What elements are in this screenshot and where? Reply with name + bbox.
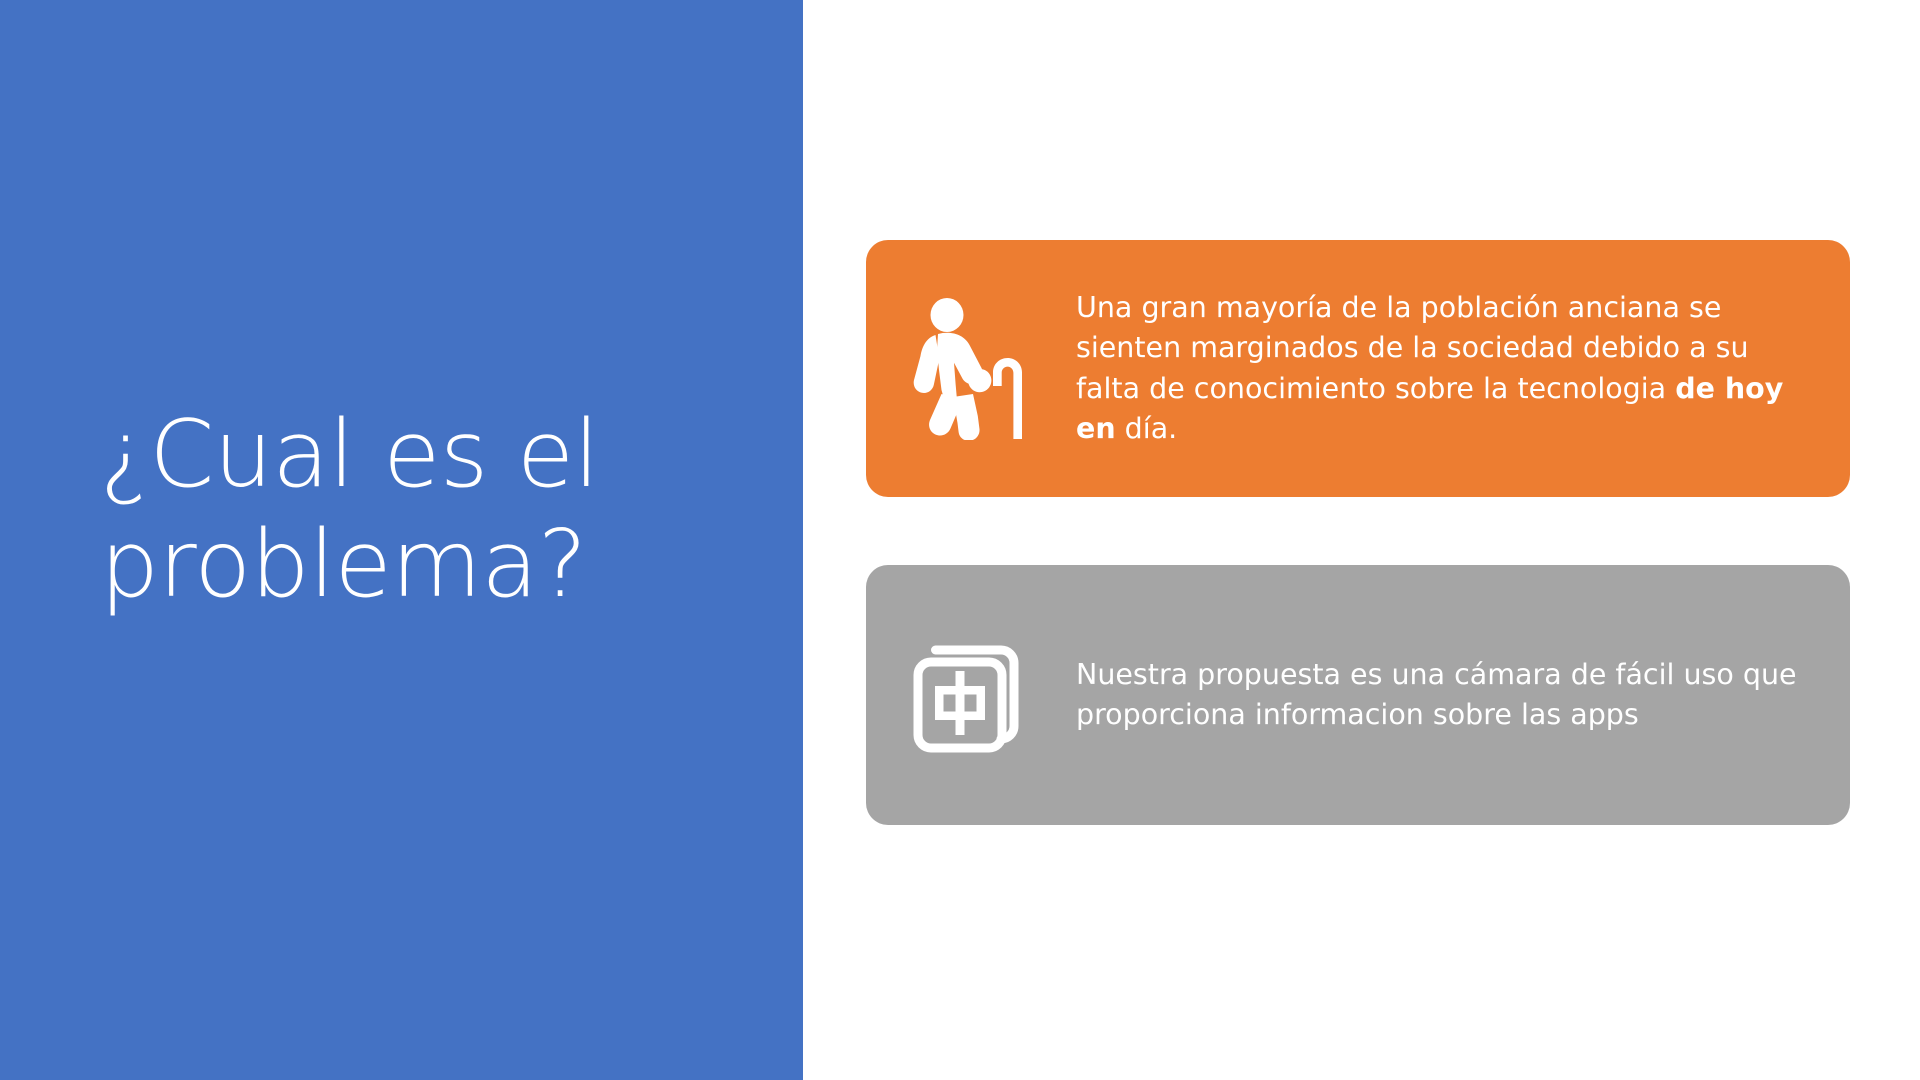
content-column: Una gran mayoría de la población anciana… (803, 0, 1920, 1080)
title-panel: ¿Cual es el problema? (0, 0, 803, 1080)
presentation-slide: ¿Cual es el problema? (0, 0, 1920, 1080)
mahjong-tile-icon (866, 631, 1076, 759)
info-card-solution[interactable]: Nuestra propuesta es una cámara de fácil… (866, 565, 1850, 825)
page-title: ¿Cual es el problema? (100, 400, 720, 619)
text-segment: Una gran mayoría de la población anciana… (1076, 291, 1749, 405)
info-card-problem[interactable]: Una gran mayoría de la población anciana… (866, 240, 1850, 497)
text-segment: día. (1116, 412, 1178, 445)
info-card-problem-text: Una gran mayoría de la población anciana… (1076, 288, 1850, 450)
info-card-solution-text: Nuestra propuesta es una cámara de fácil… (1076, 655, 1850, 736)
text-segment: Nuestra propuesta es una cámara de fácil… (1076, 658, 1797, 731)
elderly-person-with-cane-icon (866, 298, 1076, 440)
